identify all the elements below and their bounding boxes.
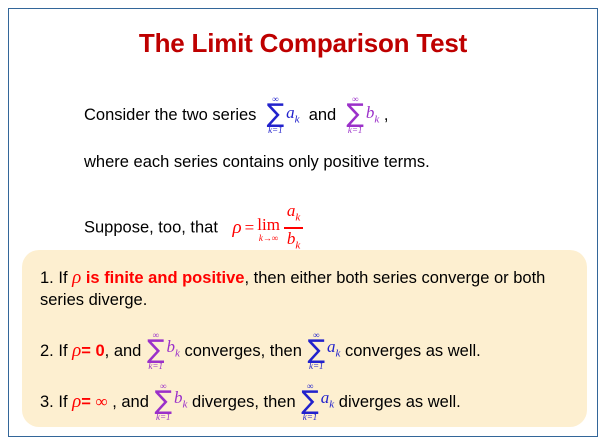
summation-b-lower-limit: k=1 [147,362,165,371]
list-item: 1. If ρ is finite and positive, then eit… [40,267,577,311]
infinity-symbol: ∞ [95,392,107,411]
summation-b: ∞ ∑ k=1 [346,96,364,135]
equals-sign: = [245,218,255,237]
term-b-k: bk [174,387,187,415]
trailing-comma: , [384,106,389,124]
term-a-k: ak [286,103,299,125]
sigma-icon: ∑ [346,103,364,126]
sigma-icon: ∑ [147,339,165,362]
statement-line-series: Consider the two series ∞ ∑ k=1 ak and ∞… [84,96,389,135]
item-2-value: = 0 [81,342,104,360]
conclusions-callout-box: 1. If ρ is finite and positive, then eit… [22,250,587,427]
summation-a: ∞ ∑ k=1 [301,383,319,422]
limit-operator: limk→∞ [257,216,280,243]
summation-a-lower-limit: k=1 [301,413,319,422]
item-2-middle: converges, then [184,342,301,360]
item-1-number: 1. [40,269,54,287]
item-3-number: 3. [40,393,54,411]
and-text-1: and [309,106,337,124]
rho-symbol: ρ [72,340,81,361]
limit-definition-formula: ρ=limk→∞akbk [233,202,304,256]
statement-line-positive-terms: where each series contains only positive… [84,153,430,172]
term-a-k: ak [327,336,340,364]
suppose-text: Suppose, too, that [84,219,218,237]
item-2-number: 2. [40,342,54,360]
rho-symbol: ρ [233,217,242,238]
summation-a: ∞ ∑ k=1 [267,96,285,135]
list-item: 3. If ρ= ∞ , and ∞ ∑ k=1 bk diverges, th… [40,383,577,422]
term-b-k: bk [366,103,379,125]
item-3-tail: diverges as well. [339,393,461,411]
item-2-after-value: , and [105,342,142,360]
sigma-icon: ∑ [155,390,173,413]
item-1-rest-line1: , then either both series converge [244,269,489,287]
summation-b: ∞ ∑ k=1 [147,332,165,371]
lim-word: lim [257,216,280,233]
lim-subscript: k→∞ [257,233,280,243]
summation-a-lower-limit: k=1 [307,362,325,371]
item-3-equals: = [81,393,91,411]
statement-line-suppose: Suppose, too, that ρ=limk→∞akbk [84,201,303,255]
sigma-icon: ∑ [301,390,319,413]
sigma-icon: ∑ [307,339,325,362]
fraction-numerator: ak [284,201,303,227]
item-2-tail: converges as well. [345,342,481,360]
fraction-ak-over-bk: akbk [284,201,303,255]
item-2-lead: If [58,342,67,360]
summation-b-lower-limit: k=1 [155,413,173,422]
rho-symbol: ρ [72,267,81,288]
consider-text: Consider the two series [84,106,256,124]
item-3-middle: diverges, then [192,393,296,411]
term-b-k: bk [166,336,179,364]
sigma-icon: ∑ [267,103,285,126]
item-3-after-value: , and [112,393,149,411]
item-1-highlight: is finite and positive [86,269,245,287]
summation-a-lower-limit: k=1 [267,126,285,135]
slide-container: The Limit Comparison Test Consider the t… [8,8,598,437]
summation-a: ∞ ∑ k=1 [307,332,325,371]
list-item: 2. If ρ= 0, and ∞ ∑ k=1 bk converges, th… [40,332,577,371]
term-a-k: ak [321,387,334,415]
page-title: The Limit Comparison Test [9,28,597,59]
item-1-lead: If [58,269,67,287]
item-3-lead: If [58,393,67,411]
summation-b: ∞ ∑ k=1 [155,383,173,422]
rho-symbol: ρ [72,391,81,412]
summation-b-lower-limit: k=1 [346,126,364,135]
